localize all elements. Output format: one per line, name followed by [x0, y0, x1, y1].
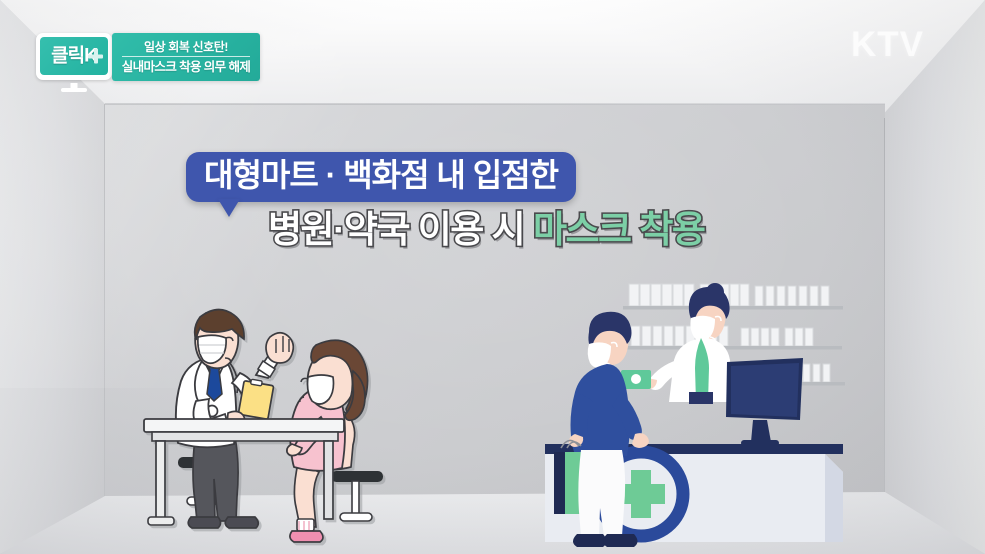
headline-bubble: 대형마트 · 백화점 내 입점한: [186, 152, 576, 202]
plus-cross-icon: [88, 49, 103, 64]
pharmacy-illustration: [545, 282, 890, 554]
left-corner-edge: [104, 104, 105, 496]
headline-bubble-tail: [218, 199, 240, 217]
channel-logo: 클릭K: [36, 33, 112, 80]
logo-monitor-stand: [61, 88, 87, 92]
channel-watermark: KTV: [851, 25, 924, 65]
headline-line2-highlight: 마스크 착용: [533, 209, 704, 250]
logo-screen-area: 클릭K: [40, 37, 108, 75]
program-banner: 일상 회복 신호탄! 실내마스크 착용 의무 해제: [112, 33, 260, 81]
headline-line2: 병원·약국 이용 시 마스크 착용: [268, 211, 704, 248]
counter-monitor: [726, 358, 803, 446]
banner-line2: 실내마스크 착용 의무 해제: [122, 57, 251, 74]
banner-line1: 일상 회복 신호탄!: [144, 41, 228, 56]
logo-monitor-frame: 클릭K: [36, 33, 112, 80]
ceiling-edge: [105, 103, 885, 105]
headline-line2-plain: 병원·약국 이용 시: [268, 209, 533, 250]
broadcast-frame: 대형마트 · 백화점 내 입점한 병원·약국 이용 시 마스크 착용 클릭K 일…: [0, 0, 985, 554]
headline-bubble-text: 대형마트 · 백화점 내 입점한: [204, 158, 558, 194]
clinic-scene: [138, 305, 408, 554]
clinic-illustration: [138, 305, 408, 554]
pharmacy-scene: [545, 282, 890, 554]
